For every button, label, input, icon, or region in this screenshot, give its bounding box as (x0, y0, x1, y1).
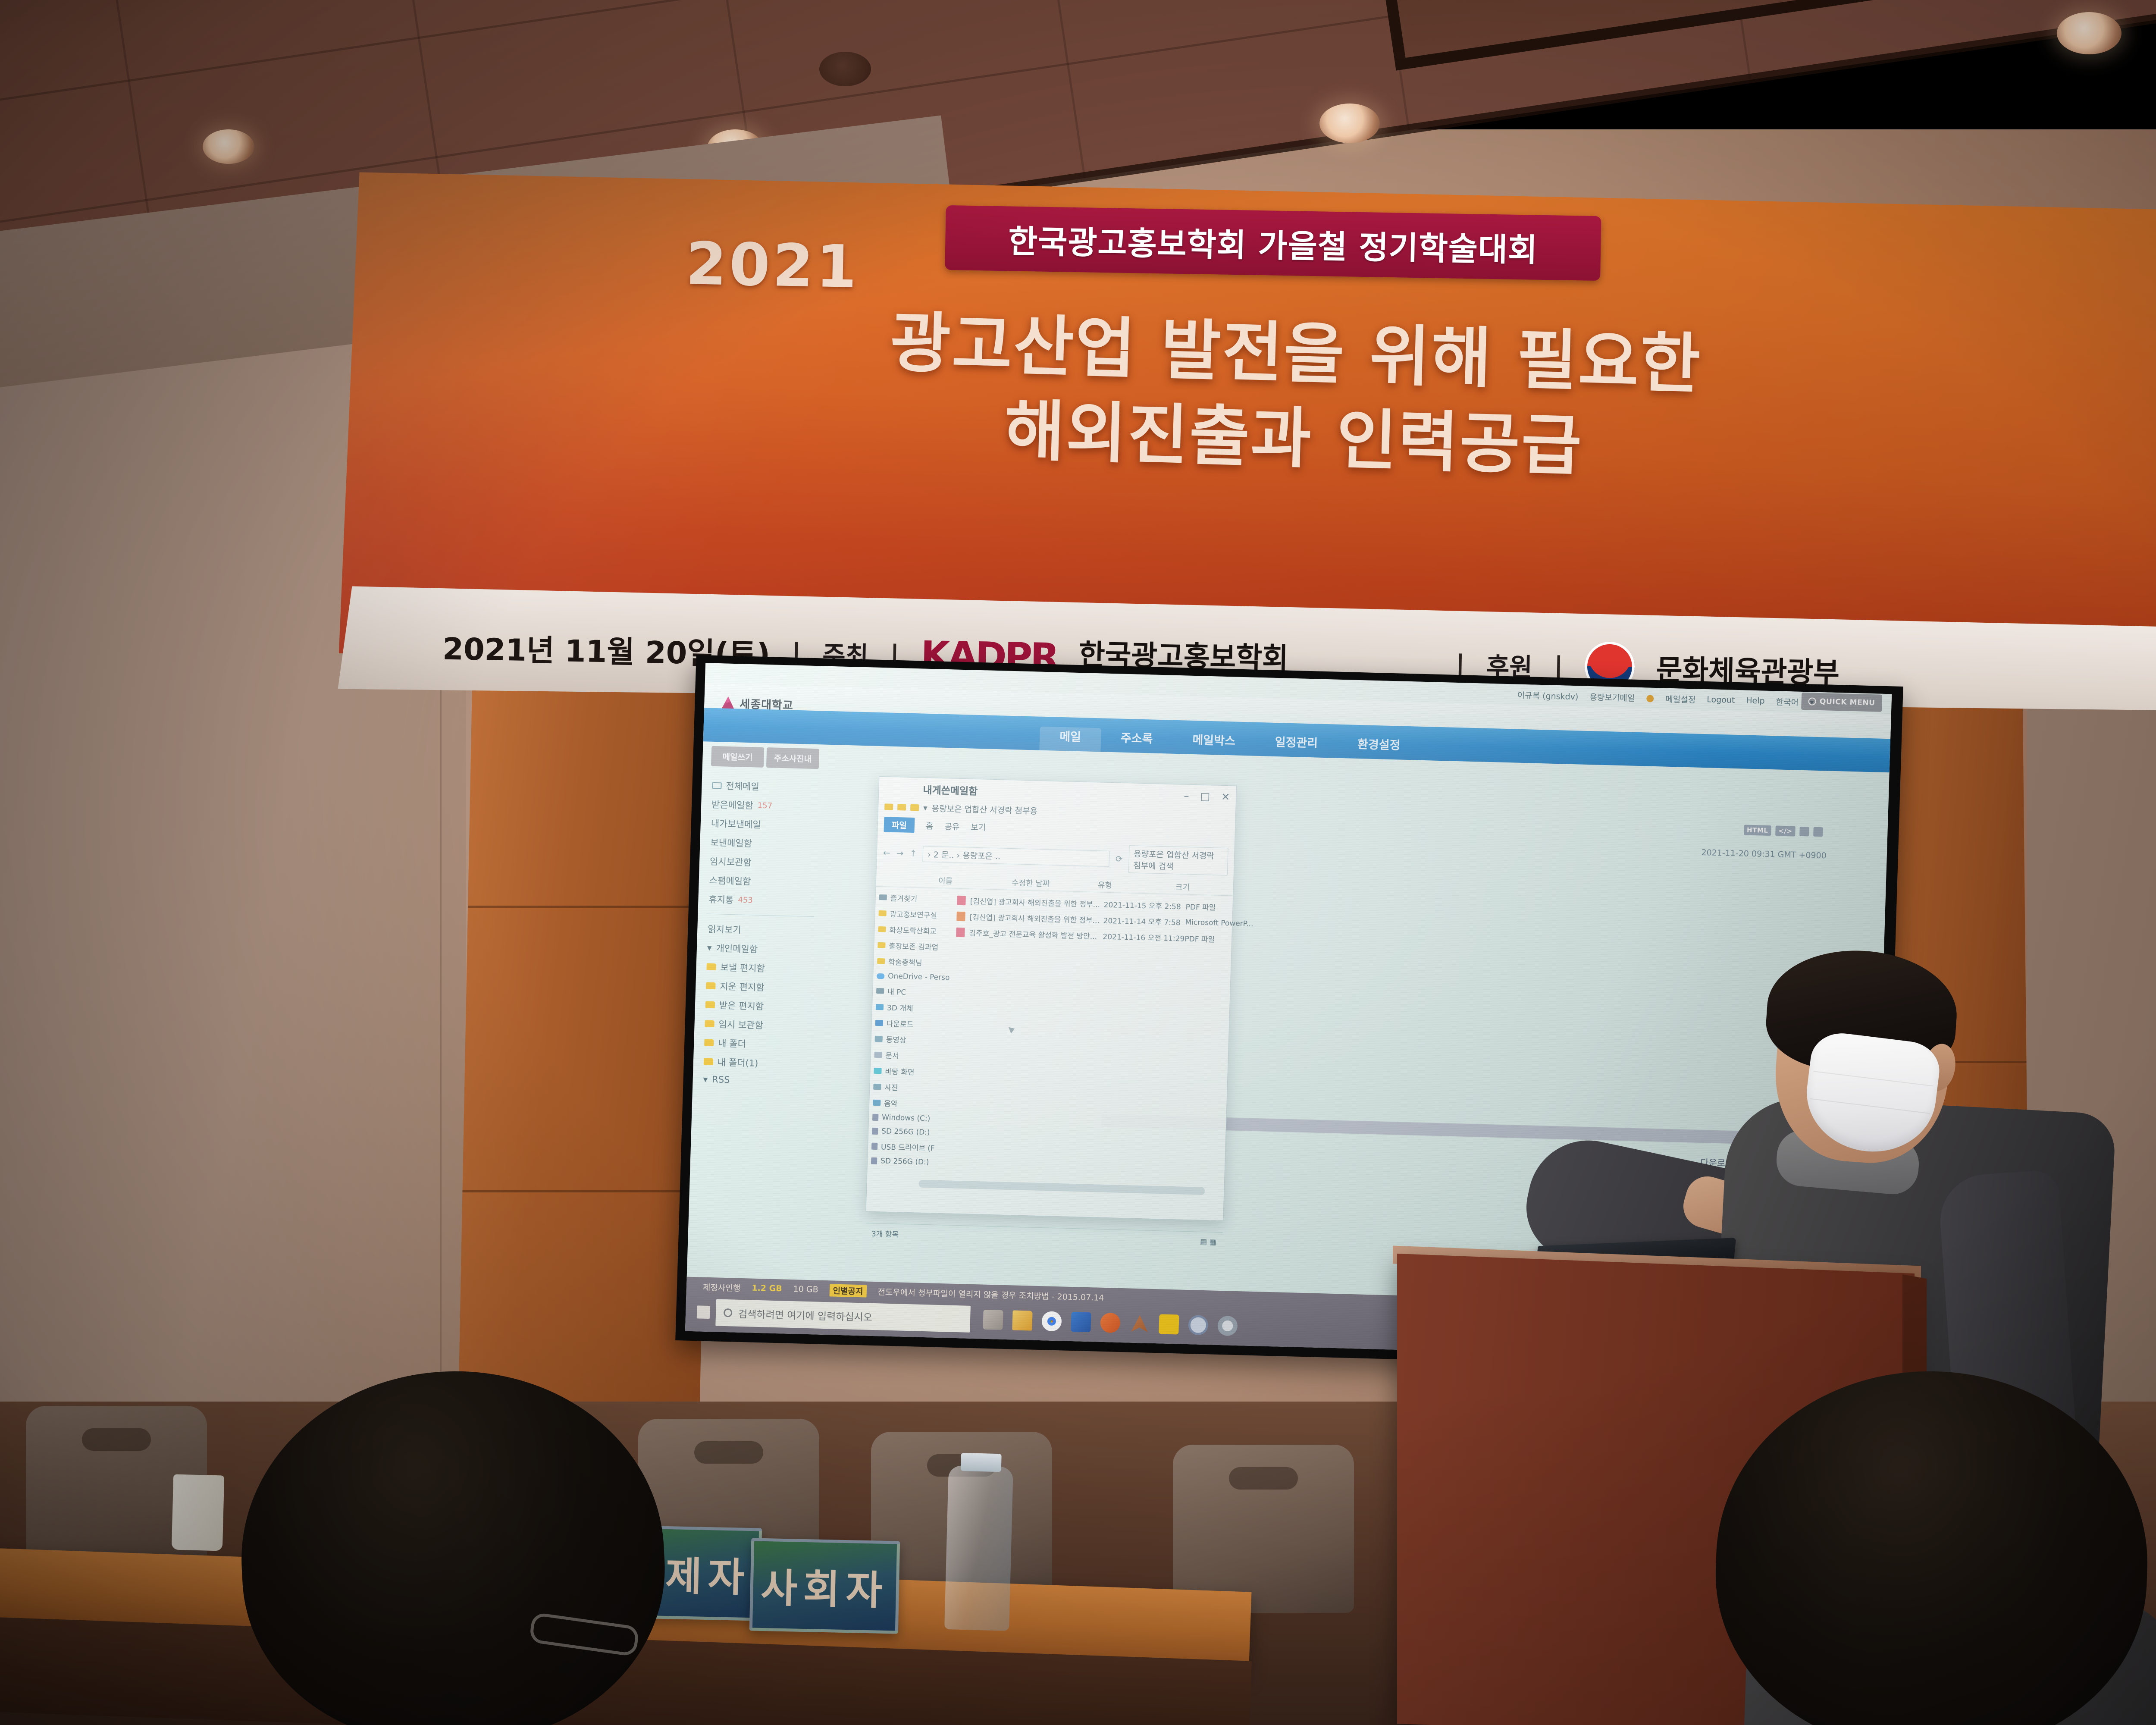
sidebar-label: 보낸메일함 (710, 836, 752, 850)
file-type: PDF 파일 (1185, 901, 1263, 914)
divider: | (1554, 651, 1563, 681)
sidebar-item-drafts[interactable]: 임시보관함 (708, 852, 816, 874)
tree-item-this-pc[interactable]: 내 PC (875, 983, 950, 1001)
explorer-title: 내게쓴메일함 (885, 781, 978, 798)
sidebar-label: 개인메일함 (716, 941, 758, 956)
explorer-search-input[interactable]: 용량포은 업합산 서경락 첨부에 검색 (1128, 845, 1228, 875)
address-book-button[interactable]: 주소사진내 (766, 747, 819, 769)
folder-icon (704, 1039, 714, 1047)
tree-label: Windows (C:) (882, 1113, 931, 1123)
back-icon[interactable]: ← (883, 847, 890, 858)
tree-item-folder[interactable]: 출장보존 김과업 (877, 937, 952, 955)
sidebar-label: 내 폴더 (718, 1036, 746, 1050)
column-modified[interactable]: 수정한 날짜 (1012, 877, 1098, 890)
tree-label: SD 256G (D:) (881, 1127, 930, 1137)
tree-label: 학술총책님 (888, 956, 922, 968)
tree-item-folder[interactable]: 광고홍보연구실 (877, 905, 953, 923)
tree-item-folder[interactable]: 화상도학산회교 (877, 921, 952, 939)
tree-label: 음악 (884, 1097, 898, 1108)
taskbar-icons (983, 1310, 1238, 1336)
mail-format-toolbar: HTML </> (1744, 825, 1823, 837)
sidebar-label: 지운 편지함 (720, 979, 765, 994)
tree-item-music[interactable]: 음악 (872, 1095, 947, 1113)
quota-indicator-icon: ● (1646, 693, 1655, 703)
yellow-app-icon[interactable] (1159, 1314, 1179, 1334)
conference-hall-scene: 한국광고홍보학회 가을철 정기학술대회 2021 광고산업 발전을 위해 필요한… (0, 0, 2156, 1725)
tree-item-onedrive[interactable]: OneDrive - Perso (876, 969, 951, 985)
tree-label: 다운로드 (887, 1018, 914, 1029)
utility-link-quota[interactable]: 용량보기메일 (1589, 690, 1635, 703)
banner-ribbon: 한국광고홍보학회 가을철 정기학술대회 (945, 205, 1601, 281)
pdf-icon (957, 895, 966, 905)
chevron-down-icon: ▾ (707, 943, 712, 953)
video-icon (875, 1035, 883, 1041)
pictures-icon (873, 1083, 881, 1089)
html-format-badge[interactable]: HTML (1744, 825, 1771, 836)
3d-objects-icon (876, 1004, 884, 1010)
tree-label: 출장보존 김과업 (889, 940, 939, 952)
folder-icon (706, 982, 715, 990)
sidebar-label: 보낼 편지함 (720, 960, 765, 975)
gear-icon[interactable] (1217, 1316, 1238, 1336)
tree-label: 광고홍보연구실 (890, 908, 937, 920)
sidebar-folder[interactable]: 임시 보관함 (703, 1014, 811, 1036)
explorer-breadcrumb: 용량보은 업합산 서경락 첨부용 (931, 802, 1037, 816)
ceiling-downlight-off (819, 52, 871, 86)
nav-item-calendar[interactable]: 일정관리 (1255, 732, 1338, 758)
tree-label: OneDrive - Perso (888, 972, 950, 982)
powerpoint-icon[interactable] (1100, 1313, 1120, 1333)
sidebar-item-self-mail[interactable]: 내가보낸메일 (709, 814, 817, 836)
file-modified: 2021-11-16 오전 11:29 (1103, 931, 1185, 944)
file-type: Microsoft PowerP... (1185, 918, 1263, 928)
arrow-app-icon[interactable] (1129, 1314, 1150, 1334)
sidebar-label: 임시보관함 (710, 855, 752, 869)
chair (1173, 1445, 1354, 1613)
file-name: [김신엽] 광고회사 해외진출을 위한 정부... (969, 911, 1103, 925)
quick-menu-label: QUICK MENU (1820, 697, 1875, 707)
paper-cup (172, 1474, 225, 1551)
folder-icon (897, 804, 906, 811)
utility-link-help[interactable]: Help (1746, 696, 1765, 706)
windows-start-icon[interactable] (697, 1305, 710, 1319)
sidebar-label: 스팸메일함 (709, 874, 751, 888)
ribbon-tab-view[interactable]: 보기 (971, 821, 986, 833)
folder-icon (910, 804, 919, 811)
save-icon[interactable] (1813, 827, 1823, 837)
nameplate-label: 사회자 (760, 1556, 889, 1616)
folder-icon (884, 803, 893, 810)
nav-item-settings[interactable]: 환경설정 (1337, 734, 1420, 760)
ceiling-downlight (2057, 12, 2122, 54)
sidebar-item-rss[interactable]: ▾ RSS (701, 1071, 809, 1090)
source-format-badge[interactable]: </> (1775, 825, 1796, 836)
taskbar-search-input[interactable]: 검색하려면 여기에 입력하십시오 (715, 1299, 971, 1332)
sidebar-label: 받은메일함 (711, 798, 753, 812)
tree-item-videos[interactable]: 동영상 (874, 1031, 949, 1049)
folder-icon (706, 963, 716, 971)
tree-item-downloads[interactable]: 다운로드 (874, 1015, 949, 1033)
nav-item-mailbox[interactable]: 메일박스 (1172, 730, 1255, 756)
sidebar-label: 읽지보기 (708, 922, 741, 936)
search-placeholder: 검색하려면 여기에 입력하십시오 (738, 1306, 873, 1324)
mail-received-timestamp: 2021-11-20 09:31 GMT +0900 (1701, 848, 1827, 861)
drive-icon (872, 1114, 878, 1121)
sidebar-label: 전체메일 (726, 779, 759, 793)
drive-icon (872, 1128, 878, 1135)
column-type[interactable]: 유형 (1098, 879, 1176, 892)
sidebar-folder[interactable]: 보낼 편지함 (705, 957, 813, 979)
file-name: [김신엽] 광고회사 해외진출을 위한 정부... (970, 895, 1104, 910)
sidebar-divider (706, 914, 814, 917)
item-count: 3개 항목 (871, 1228, 899, 1239)
ribbon-tab-share[interactable]: 공유 (944, 820, 960, 832)
ribbon-tab-file[interactable]: 파일 (884, 817, 915, 833)
folder-icon (705, 1020, 714, 1028)
office-icon[interactable] (1071, 1312, 1091, 1332)
sidebar-label: 임시 보관함 (718, 1017, 763, 1032)
webmail-sidebar: 메일쓰기 주소사진내 전체메일 받은메일함 157 내가보낸메일 (696, 746, 819, 1276)
forward-icon[interactable]: → (896, 848, 903, 858)
water-bottle (944, 1465, 1013, 1631)
ceiling-downlight (203, 129, 254, 164)
folder-icon (704, 1058, 713, 1065)
sidebar-label: 받은 편지함 (719, 998, 764, 1013)
tree-item-folder[interactable]: 학술총책님 (876, 953, 951, 971)
sidebar-label: 휴지통 (708, 893, 734, 906)
powerpoint-icon (956, 911, 965, 921)
tree-label: 문서 (885, 1050, 899, 1061)
file-modified: 2021-11-14 오후 7:58 (1103, 915, 1185, 928)
ticker-total-size: 10 GB (793, 1284, 818, 1295)
sidebar-item-sent[interactable]: 보낸메일함 (708, 833, 817, 855)
tree-label: 바탕 화면 (885, 1066, 915, 1077)
sidebar-count: 157 (757, 801, 772, 810)
ceiling-downlight (1319, 103, 1380, 143)
university-mark-icon (721, 696, 735, 709)
download-icon (875, 1019, 883, 1026)
sidebar-item-personal-mailbox[interactable]: ▾ 개인메일함 (705, 938, 813, 960)
tree-label: SD 256G (D:) (881, 1157, 929, 1167)
utility-link-logout[interactable]: Logout (1707, 695, 1735, 705)
ribbon-tab-home[interactable]: 홈 (925, 820, 933, 831)
chevron-down-icon: ▾ (703, 1074, 708, 1084)
usb-icon (871, 1142, 877, 1149)
folder-icon (877, 958, 885, 964)
mouse-cursor-icon (1009, 1026, 1016, 1034)
folder-icon (877, 942, 885, 948)
quick-menu-icon (1808, 697, 1817, 705)
tree-item-usb-drive[interactable]: USB 드라이브 (F (871, 1138, 946, 1156)
minimize-icon[interactable]: – (1184, 790, 1189, 802)
tree-label: 3D 개체 (887, 1002, 913, 1013)
document-icon (874, 1051, 882, 1057)
utility-link-user[interactable]: 이규복 (gnskdv) (1517, 689, 1578, 702)
address-path[interactable]: › 2 문.. › 용량포은 .. (923, 846, 1110, 866)
window-controls: – □ ✕ (1184, 790, 1230, 803)
refresh-icon[interactable]: ⟳ (1116, 853, 1123, 864)
sidebar-folder[interactable]: 내 폴더 (702, 1033, 811, 1055)
sidebar-item-unread[interactable]: 읽지보기 (706, 919, 814, 941)
cloud-icon (877, 973, 884, 979)
copy-app-icon[interactable] (1188, 1315, 1208, 1335)
tree-item-pictures[interactable]: 사진 (872, 1079, 947, 1097)
tree-item-drive-d[interactable]: SD 256G (D:) (871, 1124, 946, 1140)
file-name: 김주호_광고 전문교육 활성화 발전 방안... (969, 927, 1103, 941)
sidebar-folder[interactable]: 받은 편지함 (703, 995, 812, 1017)
sidebar-label: 내가보낸메일 (711, 817, 761, 831)
folder-icon (878, 926, 886, 932)
ticker-label: 제정사인행 (703, 1281, 741, 1293)
explorer-navigation-tree: 즐겨찾기 광고홍보연구실 화상도학산회교 출장보존 김과업 학술총책님 OneD… (866, 887, 956, 1225)
sidebar-item-spam[interactable]: 스팸메일함 (707, 871, 815, 893)
task-view-icon[interactable] (983, 1310, 1003, 1330)
pc-icon (876, 988, 884, 994)
tree-label: 동영상 (886, 1034, 906, 1045)
tree-item-documents[interactable]: 문서 (873, 1047, 948, 1065)
column-size[interactable]: 크기 (1175, 881, 1214, 893)
tree-label: 내 PC (887, 986, 906, 997)
sidebar-folder[interactable]: 지운 편지함 (704, 976, 812, 998)
tree-label: 사진 (884, 1081, 898, 1092)
sidebar-folder[interactable]: 내 폴더(1) (702, 1052, 810, 1074)
sidebar-buttons: 메일쓰기 주소사진내 (711, 746, 819, 769)
event-banner: 한국광고홍보학회 가을철 정기학술대회 2021 광고산업 발전을 위해 필요한… (338, 160, 2156, 720)
tree-item-3d-objects[interactable]: 3D 개체 (874, 999, 950, 1017)
folder-icon (878, 910, 886, 916)
mail-icon (712, 782, 721, 789)
close-icon[interactable]: ✕ (1221, 791, 1230, 803)
tree-item-drive-c[interactable]: Windows (C:) (871, 1110, 946, 1126)
maximize-icon[interactable]: □ (1200, 790, 1210, 803)
sidebar-label: RSS (712, 1074, 730, 1085)
chevron-down-icon[interactable]: ▾ (923, 803, 928, 812)
search-icon (724, 1308, 733, 1317)
file-type: PDF 파일 (1185, 933, 1263, 946)
up-icon[interactable]: ↑ (909, 848, 917, 859)
compose-mail-button[interactable]: 메일쓰기 (711, 746, 764, 768)
pdf-icon (956, 927, 965, 937)
ticker-notice-text[interactable]: 전도우에서 청부파일이 열리지 않을 경우 조치방법 - 2015.07.14 (877, 1286, 1104, 1303)
banner-year: 2021 (685, 230, 860, 301)
tree-label: USB 드라이브 (F (881, 1141, 935, 1153)
nav-item-mail[interactable]: 메일 (1039, 727, 1101, 752)
tree-item-desktop[interactable]: 바탕 화면 (873, 1063, 948, 1081)
sidebar-label: 내 폴더(1) (717, 1055, 758, 1069)
folder-icon (705, 1001, 715, 1009)
file-explorer-icon[interactable] (1012, 1310, 1032, 1330)
ticker-used-size: 1.2 GB (752, 1283, 782, 1294)
banner-ribbon-text: 한국광고홍보학회 가을철 정기학술대회 (1008, 216, 1538, 270)
view-toggle-icons[interactable]: ▤ ▦ (1200, 1237, 1216, 1246)
column-name[interactable]: 이름 (882, 873, 1012, 888)
chrome-icon[interactable] (1041, 1311, 1062, 1331)
tree-label: 즐겨찾기 (890, 892, 917, 904)
sidebar-item-all-mail[interactable]: 전체메일 (710, 776, 818, 798)
drive-icon (871, 1157, 877, 1164)
ticker-badge: 인별공지 (829, 1284, 867, 1297)
sidebar-count: 453 (738, 895, 753, 905)
desktop-icon (874, 1067, 881, 1073)
nameplate-moderator: 사회자 (749, 1538, 900, 1634)
sidebar-item-inbox[interactable]: 받은메일함 157 (710, 795, 818, 817)
file-modified: 2021-11-15 오후 2:58 (1103, 899, 1186, 912)
tree-item-favorites[interactable]: 즐겨찾기 (878, 889, 953, 907)
star-icon (879, 894, 887, 900)
music-icon (873, 1099, 881, 1105)
print-icon[interactable] (1799, 827, 1809, 837)
quick-menu-button[interactable]: QUICK MENU (1801, 693, 1882, 712)
utility-link-settings[interactable]: 메일설정 (1665, 693, 1696, 705)
nav-item-address-book[interactable]: 주소록 (1100, 728, 1173, 753)
tree-item-drive-d2[interactable]: SD 256G (D:) (870, 1154, 945, 1170)
tree-label: 화상도학산회교 (889, 924, 937, 936)
file-explorer-window[interactable]: 내게쓴메일함 – □ ✕ ▾ 용량보은 업합산 (866, 776, 1237, 1221)
sidebar-item-trash[interactable]: 휴지통 453 (707, 890, 815, 912)
language-selector[interactable]: 한국어 (1776, 696, 1799, 708)
